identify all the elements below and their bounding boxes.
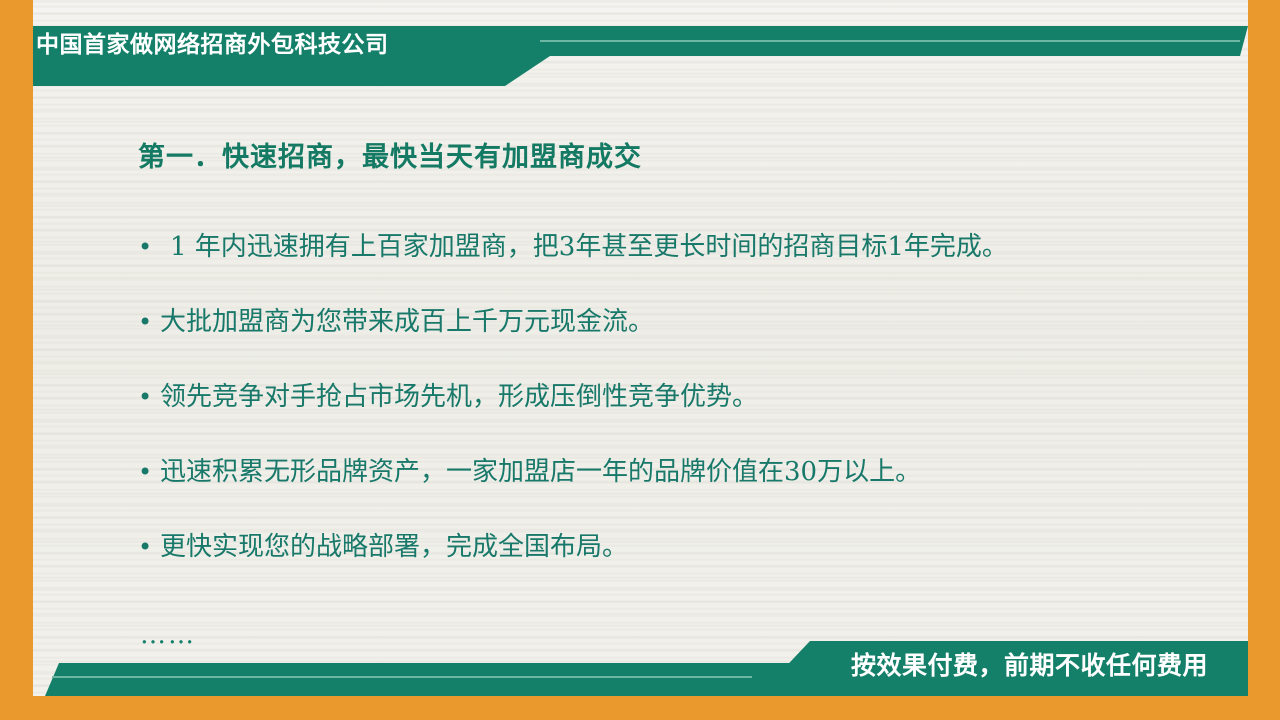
list-item-label: 迅速积累无形品牌资产，一家加盟店一年的品牌价值在30万以上。 <box>160 457 921 487</box>
bullet-list: • 1 年内迅速拥有上百家加盟商，把3年甚至更长时间的招商目标1年完成。 • 大… <box>138 232 1208 607</box>
bullet-marker-icon: • <box>138 307 160 337</box>
continuation-ellipsis: …… <box>140 620 196 650</box>
header-title: 中国首家做网络招商外包科技公司 <box>36 29 389 59</box>
header-hairline-divider <box>540 40 1240 42</box>
footer-hairline-divider <box>52 676 752 678</box>
bullet-marker-icon: • <box>138 532 160 562</box>
list-item-label: 领先竞争对手抢占市场先机，形成压倒性竞争优势。 <box>160 382 758 412</box>
bullet-marker-icon: • <box>138 457 160 487</box>
list-item: • 迅速积累无形品牌资产，一家加盟店一年的品牌价值在30万以上。 <box>138 457 1208 532</box>
list-item: • 1 年内迅速拥有上百家加盟商，把3年甚至更长时间的招商目标1年完成。 <box>138 232 1208 307</box>
bullet-marker-icon: • <box>138 382 160 412</box>
list-item: • 大批加盟商为您带来成百上千万元现金流。 <box>138 307 1208 382</box>
list-item: • 更快实现您的战略部署，完成全国布局。 <box>138 532 1208 607</box>
list-item: • 领先竞争对手抢占市场先机，形成压倒性竞争优势。 <box>138 382 1208 457</box>
slide-root: 中国首家做网络招商外包科技公司 第一．快速招商，最快当天有加盟商成交 • 1 年… <box>0 0 1280 720</box>
list-item-label: 1 年内迅速拥有上百家加盟商，把3年甚至更长时间的招商目标1年完成。 <box>160 232 1008 262</box>
bullet-marker-icon: • <box>138 232 160 262</box>
list-item-label: 大批加盟商为您带来成百上千万元现金流。 <box>160 307 654 337</box>
footer-tagline: 按效果付费，前期不收任何费用 <box>851 648 1208 684</box>
list-item-label: 更快实现您的战略部署，完成全国布局。 <box>160 532 628 562</box>
page-title: 第一．快速招商，最快当天有加盟商成交 <box>138 135 642 174</box>
